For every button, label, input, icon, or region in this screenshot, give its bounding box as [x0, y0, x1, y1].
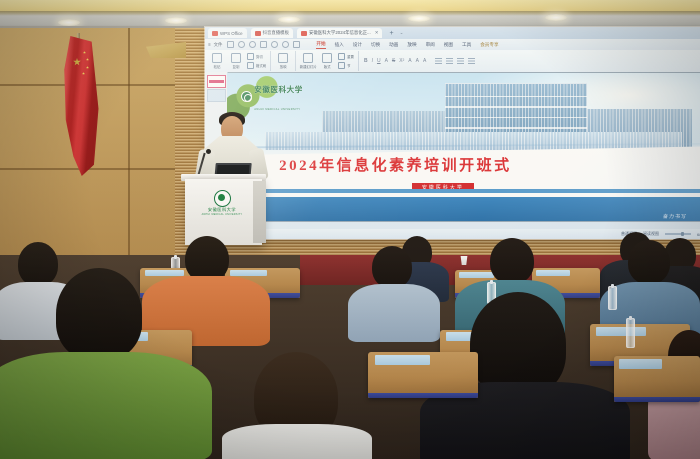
- seat-tag: [230, 270, 268, 277]
- slide-title: 2024年信息化素养培训开班式: [279, 154, 512, 175]
- hamburger-icon: ≡: [208, 42, 211, 47]
- cut-button[interactable]: 剪切: [247, 53, 266, 60]
- seat-tag: [145, 270, 184, 277]
- current-slide[interactable]: 安徽医科大学 ANHUI MEDICAL UNIVERSITY 2024年信息化…: [227, 73, 700, 221]
- ribbon-group-view: 放映: [271, 51, 296, 71]
- paste-icon: [212, 53, 222, 63]
- tab-start[interactable]: 开始: [316, 41, 325, 49]
- ribbon-group-slides: 新建幻灯片 版式 重置 节: [296, 51, 359, 71]
- brush-icon: [247, 62, 254, 69]
- seat-back: [614, 356, 700, 402]
- doc-icon: [255, 31, 261, 36]
- tab-active-presentation[interactable]: 安徽医科大学2024年信息化正... ✕: [297, 28, 383, 38]
- zoom-slider[interactable]: [665, 233, 691, 235]
- wps-tab-strip: WPS Office 抖音直播模板 安徽医科大学2024年信息化正... ✕ +…: [205, 27, 700, 39]
- ribbon-tab-bar: 开始 插入 设计 切换 动画 放映 审阅 视图 工具 会员专享: [316, 41, 498, 49]
- ceiling-shadow: [0, 11, 700, 16]
- slide-thumbnail-1[interactable]: [207, 75, 226, 88]
- format-painter-button[interactable]: 格式刷: [247, 62, 266, 69]
- play-icon: [278, 53, 288, 63]
- tab-transition[interactable]: 切换: [371, 42, 380, 48]
- tab-wps-office[interactable]: WPS Office: [208, 28, 247, 38]
- downlight-icon: [545, 14, 567, 21]
- seat-tag: [536, 270, 570, 277]
- ceiling: [0, 0, 700, 30]
- seat-tag: [459, 272, 494, 278]
- cloud-icon[interactable]: [260, 41, 267, 48]
- downlight-icon: [278, 16, 300, 23]
- superscript-button[interactable]: X²: [399, 58, 404, 64]
- file-menu-button[interactable]: ≡ 文件: [205, 42, 222, 48]
- search-icon[interactable]: [238, 41, 245, 48]
- copy-icon: [231, 53, 241, 63]
- university-name: 安徽医科大学: [254, 85, 303, 94]
- paste-label: 粘贴: [214, 64, 221, 69]
- university-emblem-icon: [241, 91, 252, 102]
- wps-ribbon: 粘贴 复制 剪切 格式刷: [205, 50, 700, 72]
- tab-tools[interactable]: 工具: [462, 42, 471, 48]
- chevron-down-icon[interactable]: ⌄: [400, 30, 404, 36]
- podium-emblem-icon: [214, 190, 231, 207]
- section-button[interactable]: 节: [338, 62, 354, 69]
- strikethrough-button[interactable]: S: [392, 58, 395, 64]
- ribbon-group-clipboard: 粘贴 复制 剪切 格式刷: [205, 51, 271, 71]
- tab-label: 抖音直播模板: [263, 30, 289, 36]
- redo-icon[interactable]: [282, 41, 289, 48]
- university-name-en: ANHUI MEDICAL UNIVERSITY: [254, 108, 300, 111]
- copy-label: 复制: [233, 64, 240, 69]
- new-tab-icon[interactable]: +: [389, 30, 393, 37]
- water-bottle: [626, 318, 635, 348]
- lecture-hall-photo: WPS Office 抖音直播模板 安徽医科大学2024年信息化正... ✕ +…: [0, 0, 700, 459]
- font-color-button[interactable]: A: [408, 58, 411, 64]
- tab-label: WPS Office: [220, 31, 243, 36]
- text-effect-button[interactable]: A: [385, 58, 388, 64]
- align-center-icon[interactable]: [468, 58, 475, 64]
- seat-tag: [619, 359, 662, 369]
- bold-button[interactable]: B: [364, 58, 368, 64]
- format-painter-label: 格式刷: [256, 63, 266, 68]
- save-icon[interactable]: [227, 41, 234, 48]
- reset-button[interactable]: 重置: [338, 53, 354, 60]
- close-icon[interactable]: ✕: [375, 30, 379, 36]
- tab-member-premium[interactable]: 会员专享: [480, 42, 498, 48]
- new-slide-button[interactable]: 新建幻灯片: [300, 53, 316, 69]
- layout-icon: [322, 53, 332, 63]
- ribbon-group-font: B I U A S X² A A A: [359, 58, 431, 64]
- layout-label: 版式: [324, 64, 331, 69]
- seat-back: [368, 352, 478, 398]
- projection-screen: WPS Office 抖音直播模板 安徽医科大学2024年信息化正... ✕ +…: [205, 27, 700, 239]
- undo-icon[interactable]: [271, 41, 278, 48]
- copy-button[interactable]: 复制: [228, 53, 244, 69]
- paste-button[interactable]: 粘贴: [209, 53, 225, 69]
- ppt-icon: [301, 31, 307, 36]
- water-bottle: [608, 286, 617, 310]
- print-icon[interactable]: [249, 41, 256, 48]
- align-left-icon[interactable]: [457, 58, 464, 64]
- file-menu-label: 文件: [214, 42, 223, 48]
- scissors-icon: [247, 53, 254, 60]
- italic-button[interactable]: I: [372, 58, 373, 64]
- tab-view[interactable]: 视图: [444, 42, 453, 48]
- tab-document-2[interactable]: 抖音直播模板: [251, 28, 293, 38]
- bullet-list-icon[interactable]: [435, 58, 442, 64]
- tab-slideshow[interactable]: 放映: [407, 42, 416, 48]
- underline-button[interactable]: U: [377, 58, 381, 64]
- downlight-icon: [58, 19, 80, 26]
- new-slide-icon: [303, 53, 313, 63]
- microphone-head: [206, 149, 211, 154]
- thumbnail-title-bar: [209, 80, 224, 83]
- layout-button[interactable]: 版式: [319, 53, 335, 69]
- slide-band-blue: 奋力书写: [227, 197, 700, 221]
- seat-tag: [375, 355, 430, 365]
- tab-review[interactable]: 审阅: [426, 42, 435, 48]
- downlight-icon: [408, 15, 430, 22]
- cove-lighting: [0, 0, 700, 11]
- highlight-button[interactable]: A: [416, 58, 419, 64]
- ribbon-group-paragraph: [431, 58, 479, 64]
- podium-side-panel: [253, 181, 266, 243]
- clipboard-small-buttons: 剪切 格式刷: [247, 53, 266, 69]
- tab-label: 安徽医科大学2024年信息化正...: [309, 30, 371, 36]
- quick-access-toolbar[interactable]: [222, 41, 300, 48]
- tab-insert[interactable]: 插入: [335, 42, 344, 48]
- cut-label: 剪切: [256, 54, 263, 59]
- slideshow-label: 放映: [280, 64, 287, 69]
- tab-design[interactable]: 设计: [353, 42, 362, 48]
- podium-university-name-en: ANHUI MEDICAL UNIVERSITY: [198, 213, 246, 216]
- wps-menu-row: ≡ 文件 开始 插入 设计 切换 动画 放映 审阅 视图: [205, 39, 700, 50]
- customize-icon[interactable]: [293, 41, 300, 48]
- slide-editing-area: 安徽医科大学 ANHUI MEDICAL UNIVERSITY 2024年信息化…: [205, 72, 700, 222]
- slides-small-buttons: 重置 节: [338, 53, 354, 69]
- reset-label: 重置: [347, 54, 354, 59]
- tab-animation[interactable]: 动画: [389, 42, 398, 48]
- section-icon: [338, 62, 345, 69]
- slide-thumbnail-2[interactable]: [207, 89, 226, 102]
- slideshow-button[interactable]: 放映: [275, 53, 291, 69]
- downlight-icon: [165, 17, 187, 24]
- reset-icon: [338, 53, 345, 60]
- slide-university-logo: 安徽医科大学 ANHUI MEDICAL UNIVERSITY: [241, 79, 303, 115]
- wps-logo-icon: [212, 31, 218, 36]
- slide-slogan: 奋力书写: [662, 213, 687, 220]
- section-label: 节: [347, 63, 350, 68]
- numbered-list-icon[interactable]: [446, 58, 453, 64]
- seat-tag: [596, 327, 646, 336]
- clear-format-button[interactable]: A: [423, 58, 426, 64]
- new-slide-label: 新建幻灯片: [300, 64, 317, 69]
